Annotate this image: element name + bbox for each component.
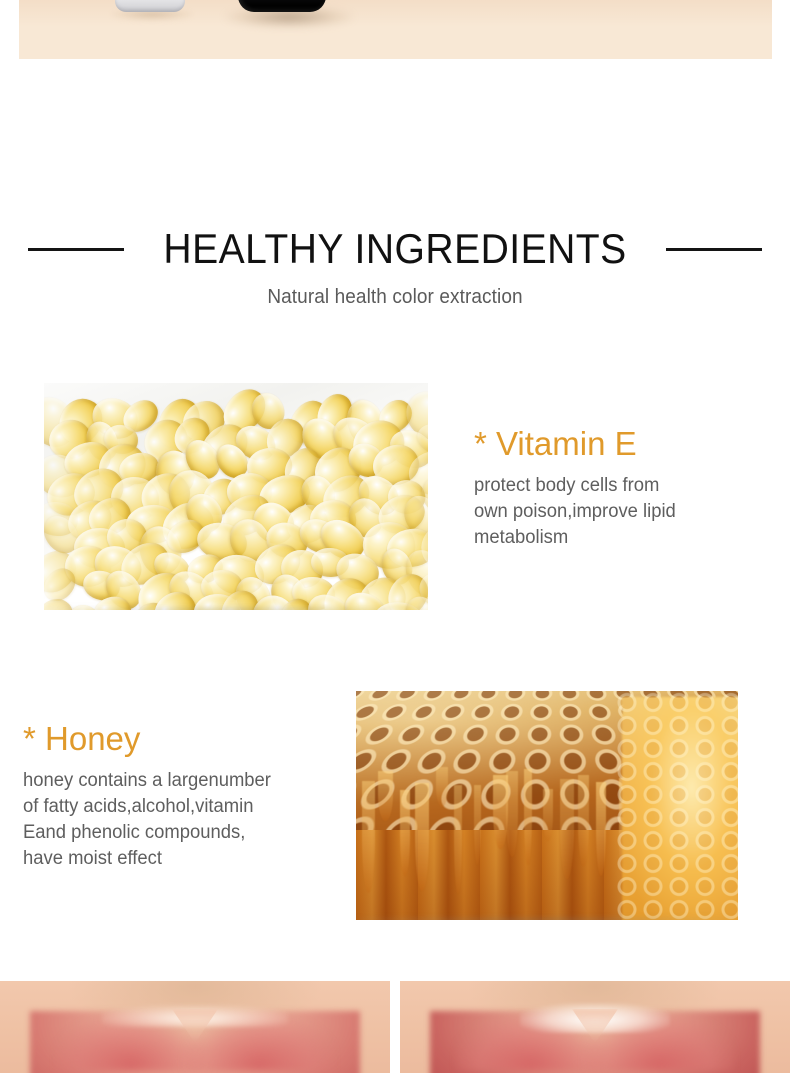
honey-drip [560, 779, 574, 879]
desc-line: have moist effect [23, 846, 343, 872]
product-detail-page: HEALTHY INGREDIENTS Natural health color… [0, 0, 790, 1073]
honey-drip [578, 775, 589, 866]
vitamin-e-image [44, 383, 428, 610]
honey-drip [524, 769, 531, 866]
headline-row: HEALTHY INGREDIENTS [0, 224, 790, 274]
page-title: HEALTHY INGREDIENTS [163, 224, 626, 274]
white-product-bottom [115, 0, 185, 12]
honey-image [356, 691, 738, 920]
desc-line: of fatty acids,alcohol,vitamin [23, 794, 343, 820]
softgel-capsules-cluster [44, 399, 428, 610]
top-banner [19, 0, 772, 59]
ingredient-description-vitamin-e: protect body cells from own poison,impro… [474, 473, 765, 551]
honey-drip [506, 771, 518, 857]
honey-drip [378, 771, 392, 821]
rule-right-decoration [666, 248, 762, 251]
black-product-bottom [238, 0, 326, 12]
honey-drip [415, 783, 429, 891]
ingredient-title-honey: * Honey [23, 719, 353, 759]
desc-line: honey contains a largenumber [23, 768, 343, 794]
page-subtitle: Natural health color extraction [20, 284, 771, 310]
rule-left-decoration [28, 248, 124, 251]
honeycomb-lit-cell-pattern [614, 691, 738, 920]
ingredient-block-honey: * Honey honey contains a largenumber of … [23, 719, 353, 872]
lips-photo-left [0, 981, 390, 1073]
desc-line: protect body cells from [474, 473, 765, 499]
ingredient-title-vitamin-e: * Vitamin E [474, 424, 774, 464]
ingredient-description-honey: honey contains a largenumber of fatty ac… [23, 768, 343, 872]
lips-photo-right [400, 981, 790, 1073]
desc-line: metabolism [474, 525, 765, 551]
section-heading: HEALTHY INGREDIENTS Natural health color… [0, 224, 790, 310]
desc-line: own poison,improve lipid [474, 499, 765, 525]
honey-drip [362, 781, 375, 893]
desc-line: Eand phenolic compounds, [23, 820, 343, 846]
ingredient-block-vitamin-e: * Vitamin E protect body cells from own … [474, 424, 774, 551]
